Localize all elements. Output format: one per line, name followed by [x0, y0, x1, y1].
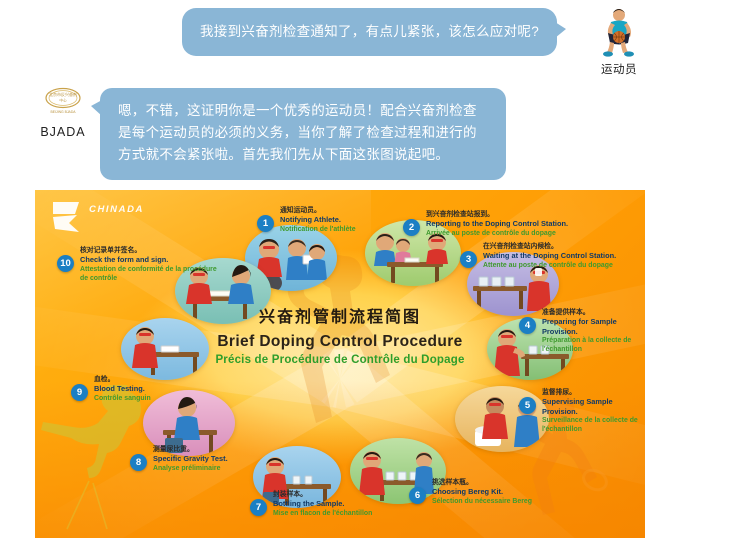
step-en-1: Notifying Athlete.	[280, 215, 407, 225]
step-label-1: 1 通知运动员。 Notifying Athlete. Notification…	[257, 206, 407, 234]
step-number-7: 7	[250, 499, 267, 516]
user-avatar-block[interactable]: 运动员	[588, 6, 650, 77]
chinada-logo-icon: CHINADA	[49, 198, 157, 232]
step-zh-9: 血检。	[94, 375, 191, 384]
step-fr-9: Contrôle sanguin	[94, 394, 191, 403]
step-en-3: Waiting at the Doping Control Station.	[483, 251, 642, 261]
user-avatar-label: 运动员	[588, 61, 650, 77]
step-en-6: Choosing Bereg Kit.	[432, 487, 559, 497]
step-label-8: 8 测量尿比重。 Specific Gravity Test. Analyse …	[130, 445, 270, 473]
step-zh-10: 核对记录单并签名。	[80, 246, 217, 255]
poster-title-en: Brief Doping Control Procedure	[175, 332, 505, 351]
step-zh-1: 通知运动员。	[280, 206, 407, 215]
poster-title-zh: 兴奋剂管制流程简图	[175, 308, 505, 328]
step-label-4: 4 准备提供样本。 Preparing for Sample Provision…	[519, 308, 639, 354]
step-number-6: 6	[409, 487, 426, 504]
step-number-4: 4	[519, 317, 536, 334]
svg-text:BEIJING BJADA: BEIJING BJADA	[50, 110, 76, 114]
user-message-bubble: 我接到兴奋剂检查通知了，有点儿紧张，该怎么应对呢?	[182, 8, 557, 56]
step-label-3: 3 在兴奋剂检查站内候检。 Waiting at the Doping Cont…	[460, 242, 642, 270]
step-en-10: Check the form and sign.	[80, 255, 217, 265]
step-zh-8: 测量尿比重。	[153, 445, 270, 454]
step-label-2: 2 到兴奋剂检查站报到。 Reporting to the Doping Con…	[403, 210, 593, 238]
poster-titles: 兴奋剂管制流程简图 Brief Doping Control Procedure…	[175, 308, 505, 368]
poster-title-fr: Précis de Procédure de Contrôle du Dopag…	[175, 353, 505, 368]
bot-message-text: 嗯，不错，这证明你是一个优秀的运动员！配合兴奋剂检查是每个运动员的必须的义务，当…	[118, 103, 477, 162]
user-message-text: 我接到兴奋剂检查通知了，有点儿紧张，该怎么应对呢?	[200, 24, 539, 39]
chat-page: 我接到兴奋剂检查通知了，有点儿紧张，该怎么应对呢?	[0, 0, 729, 547]
step-number-3: 3	[460, 251, 477, 268]
step-fr-2: Arrivée au poste de contrôle du dopage	[426, 229, 593, 238]
step-en-7: Bottling the Sample.	[273, 499, 410, 509]
step-label-9: 9 血检。 Blood Testing. Contrôle sanguin	[71, 375, 191, 403]
step-label-7: 7 封装样本。 Bottling the Sample. Mise en fla…	[250, 490, 410, 518]
step-en-8: Specific Gravity Test.	[153, 454, 270, 464]
step-label-10: 10 核对记录单并签名。 Check the form and sign. At…	[57, 246, 217, 283]
step-zh-3: 在兴奋剂检查站内候检。	[483, 242, 642, 251]
step-fr-7: Mise en flacon de l'échantillon	[273, 509, 410, 518]
step-zh-7: 封装样本。	[273, 490, 410, 499]
svg-text:北京市反兴奋剂: 北京市反兴奋剂	[49, 91, 77, 97]
step-zh-2: 到兴奋剂检查站报到。	[426, 210, 593, 219]
step-fr-3: Attente au poste de contrôle du dopage	[483, 261, 642, 270]
step-fr-10: Attestation de conformité de la procédur…	[80, 265, 217, 283]
athlete-basketball-avatar-icon	[594, 6, 644, 58]
step-zh-5: 监督排尿。	[542, 388, 641, 397]
step-fr-8: Analyse préliminaire	[153, 464, 270, 473]
bot-message-bubble: 嗯，不错，这证明你是一个优秀的运动员！配合兴奋剂检查是每个运动员的必须的义务，当…	[100, 88, 506, 180]
step-number-8: 8	[130, 454, 147, 471]
step-en-9: Blood Testing.	[94, 384, 191, 394]
step-fr-6: Sélection du nécessaire Bereg	[432, 497, 559, 506]
step-fr-5: Surveillance de la collecte de l'échanti…	[542, 416, 641, 434]
step-number-10: 10	[57, 255, 74, 272]
bjada-emblem-logo-icon: 北京市反兴奋剂 中心 BEIJING BJADA	[35, 86, 91, 120]
step-number-2: 2	[403, 219, 420, 236]
step-fr-4: Préparation à la collecte de l'échantill…	[542, 336, 639, 354]
step-label-5: 5 监督排尿。 Supervising Sample Provision. Su…	[519, 388, 641, 434]
step-zh-6: 挑选样本瓶。	[432, 478, 559, 487]
step-number-1: 1	[257, 215, 274, 232]
step-zh-4: 准备提供样本。	[542, 308, 639, 317]
step-en-2: Reporting to the Doping Control Station.	[426, 219, 593, 229]
step-number-5: 5	[519, 397, 536, 414]
step-number-9: 9	[71, 384, 88, 401]
bot-message-row: 嗯，不错，这证明你是一个优秀的运动员！配合兴奋剂检查是每个运动员的必须的义务，当…	[100, 88, 506, 180]
bot-avatar-label: BJADA	[26, 125, 100, 139]
svg-text:中心: 中心	[59, 98, 67, 103]
doping-control-infographic[interactable]: CHINADA	[35, 190, 645, 538]
user-message-row: 我接到兴奋剂检查通知了，有点儿紧张，该怎么应对呢?	[182, 8, 557, 56]
bubble-tail-icon	[91, 100, 102, 116]
bot-avatar-block[interactable]: 北京市反兴奋剂 中心 BEIJING BJADA BJADA	[26, 86, 100, 139]
step-en-5: Supervising Sample Provision.	[542, 397, 641, 416]
step-fr-1: Notification de l'athlète	[280, 225, 407, 234]
step-en-4: Preparing for Sample Provision.	[542, 317, 639, 336]
svg-text:CHINADA: CHINADA	[89, 204, 144, 215]
bubble-tail-icon	[555, 22, 566, 38]
step-label-6: 6 挑选样本瓶。 Choosing Bereg Kit. Sélection d…	[409, 478, 559, 506]
